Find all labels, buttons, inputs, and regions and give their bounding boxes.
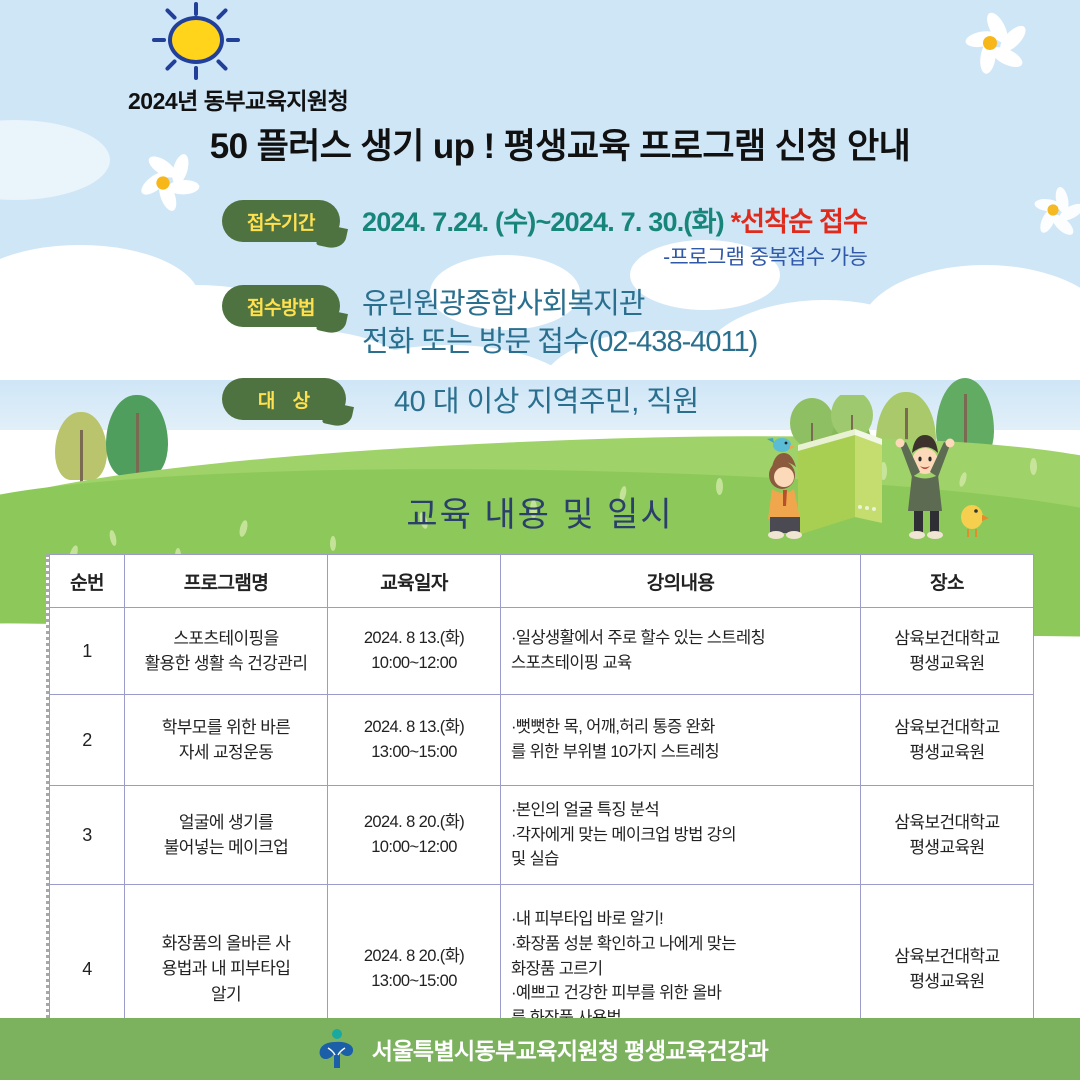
badge-method: 접수방법 bbox=[222, 285, 340, 327]
cell-program: 학부모를 위한 바른자세 교정운동 bbox=[125, 695, 328, 786]
col-header-program: 프로그램명 bbox=[125, 555, 328, 608]
page-title: 50 플러스 생기 up ! 평생교육 프로그램 신청 안내 bbox=[0, 118, 1080, 169]
badge-period: 접수기간 bbox=[222, 200, 340, 242]
cell-date: 2024. 8 20.(화)10:00~12:00 bbox=[328, 786, 501, 885]
cell-program: 얼굴에 생기를불어넣는 메이크업 bbox=[125, 786, 328, 885]
flower-icon bbox=[950, 3, 1029, 82]
period-dates: 2024. 7.24. (수)~2024. 7. 30.(화) bbox=[362, 207, 731, 237]
badge-tail bbox=[316, 223, 348, 250]
method-contact: 전화 또는 방문 접수(02-438-4011) bbox=[362, 323, 757, 361]
cell-number: 3 bbox=[50, 786, 125, 885]
table-row: 1 스포츠테이핑을활용한 생활 속 건강관리 2024. 8 13.(화)10:… bbox=[50, 608, 1034, 695]
badge-method-label: 접수방법 bbox=[247, 293, 315, 320]
info-row-method: 접수방법 유린원광종합사회복지관 전화 또는 방문 접수(02-438-4011… bbox=[222, 285, 757, 362]
cell-place: 삼육보건대학교평생교육원 bbox=[861, 695, 1034, 786]
poster-root: 2024년 동부교육지원청 50 플러스 생기 up ! 평생교육 프로그램 신… bbox=[0, 0, 1080, 1080]
table-row: 2 학부모를 위한 바른자세 교정운동 2024. 8 13.(화)13:00~… bbox=[50, 695, 1034, 786]
table-header-row: 순번 프로그램명 교육일자 강의내용 장소 bbox=[50, 555, 1034, 608]
cell-date: 2024. 8 13.(화)13:00~15:00 bbox=[328, 695, 501, 786]
info-period-text: 2024. 7.24. (수)~2024. 7. 30.(화) *선착순 접수 … bbox=[362, 200, 867, 271]
program-table-wrapper: 순번 프로그램명 교육일자 강의내용 장소 1 스포츠테이핑을활용한 생활 속 … bbox=[46, 554, 1034, 1054]
section-title: 교육 내용 및 일시 bbox=[0, 487, 1080, 536]
info-row-target: 대 상 40 대 이상 지역주민, 직원 bbox=[222, 378, 699, 420]
sun-icon bbox=[160, 8, 232, 70]
col-header-date: 교육일자 bbox=[328, 555, 501, 608]
col-header-description: 강의내용 bbox=[501, 555, 861, 608]
period-note: -프로그램 중복접수 가능 bbox=[362, 241, 867, 271]
info-method-text: 유린원광종합사회복지관 전화 또는 방문 접수(02-438-4011) bbox=[362, 285, 757, 362]
period-line: 2024. 7.24. (수)~2024. 7. 30.(화) *선착순 접수 bbox=[362, 200, 867, 239]
footer-bar: 서울특별시동부교육지원청 평생교육건강과 bbox=[0, 1018, 1080, 1080]
badge-tail bbox=[316, 308, 348, 335]
cell-description: ·일상생활에서 주로 할수 있는 스트레칭스포츠테이핑 교육 bbox=[501, 608, 861, 695]
period-accent: *선착순 접수 bbox=[731, 207, 868, 237]
cell-date: 2024. 8 13.(화)10:00~12:00 bbox=[328, 608, 501, 695]
cell-number: 1 bbox=[50, 608, 125, 695]
footer-text: 서울특별시동부교육지원청 평생교육건강과 bbox=[372, 1032, 768, 1066]
col-header-number: 순번 bbox=[50, 555, 125, 608]
cell-place: 삼육보건대학교평생교육원 bbox=[861, 608, 1034, 695]
badge-target: 대 상 bbox=[222, 378, 346, 420]
cell-description: ·본인의 얼굴 특징 분석·각자에게 맞는 메이크업 방법 강의및 실습 bbox=[501, 786, 861, 885]
cell-number: 2 bbox=[50, 695, 125, 786]
table-row: 3 얼굴에 생기를불어넣는 메이크업 2024. 8 20.(화)10:00~1… bbox=[50, 786, 1034, 885]
cell-program: 스포츠테이핑을활용한 생활 속 건강관리 bbox=[125, 608, 328, 695]
info-row-period: 접수기간 2024. 7.24. (수)~2024. 7. 30.(화) *선착… bbox=[222, 200, 867, 271]
cell-place: 삼육보건대학교평생교육원 bbox=[861, 786, 1034, 885]
program-table: 순번 프로그램명 교육일자 강의내용 장소 1 스포츠테이핑을활용한 생활 속 … bbox=[49, 554, 1034, 1054]
badge-period-label: 접수기간 bbox=[247, 208, 315, 235]
col-header-place: 장소 bbox=[861, 555, 1034, 608]
method-place: 유린원광종합사회복지관 bbox=[362, 285, 757, 323]
info-target-text: 40 대 이상 지역주민, 직원 bbox=[394, 378, 699, 420]
seoul-dongbu-education-logo bbox=[312, 1026, 358, 1072]
badge-target-label: 대 상 bbox=[258, 386, 316, 413]
cell-description: ·뻣뻣한 목, 어깨,허리 통증 완화를 위한 부위별 10가지 스트레칭 bbox=[501, 695, 861, 786]
target-desc: 40 대 이상 지역주민, 직원 bbox=[394, 378, 699, 420]
poster-eyebrow: 2024년 동부교육지원청 bbox=[128, 82, 348, 116]
